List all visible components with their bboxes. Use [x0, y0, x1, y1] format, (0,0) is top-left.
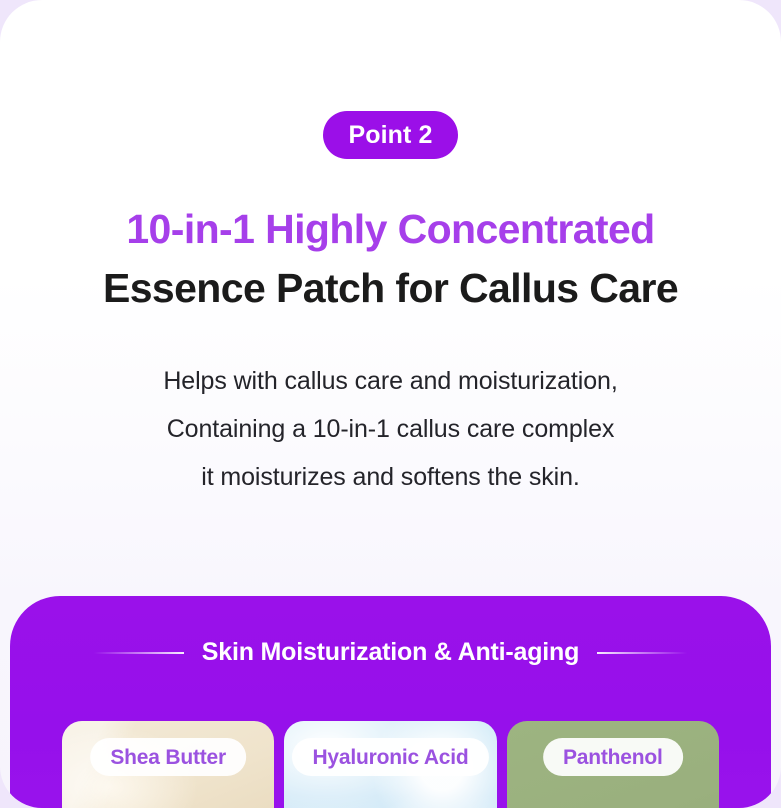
headline-line-2: Essence Patch for Callus Care [0, 259, 781, 318]
headline-line-1: 10-in-1 Highly Concentrated [0, 200, 781, 259]
page-title: 10-in-1 Highly Concentrated Essence Patc… [0, 200, 781, 318]
ingredient-label: Hyaluronic Acid [292, 738, 488, 776]
point-badge: Point 2 [323, 111, 457, 159]
panel-title: Skin Moisturization & Anti-aging [202, 640, 579, 665]
ingredient-card-list: Shea Butter Hyaluronic Acid Panthenol [62, 721, 719, 808]
point-badge-row: Point 2 [0, 111, 781, 159]
promo-page: Point 2 10-in-1 Highly Concentrated Esse… [0, 0, 781, 808]
divider-line-left [94, 652, 184, 654]
ingredient-card[interactable]: Shea Butter [62, 721, 274, 808]
description-line-1: Helps with callus care and moisturizatio… [0, 357, 781, 405]
ingredient-label: Shea Butter [90, 738, 246, 776]
ingredient-label: Panthenol [543, 738, 683, 776]
ingredient-card[interactable]: Panthenol [507, 721, 719, 808]
divider-line-right [597, 652, 687, 654]
ingredient-card[interactable]: Hyaluronic Acid [284, 721, 496, 808]
ingredients-panel: Skin Moisturization & Anti-aging Shea Bu… [10, 596, 771, 808]
panel-header: Skin Moisturization & Anti-aging [10, 640, 771, 665]
description-line-3: it moisturizes and softens the skin. [0, 453, 781, 501]
description-line-2: Containing a 10-in-1 callus care complex [0, 405, 781, 453]
description-text: Helps with callus care and moisturizatio… [0, 357, 781, 501]
